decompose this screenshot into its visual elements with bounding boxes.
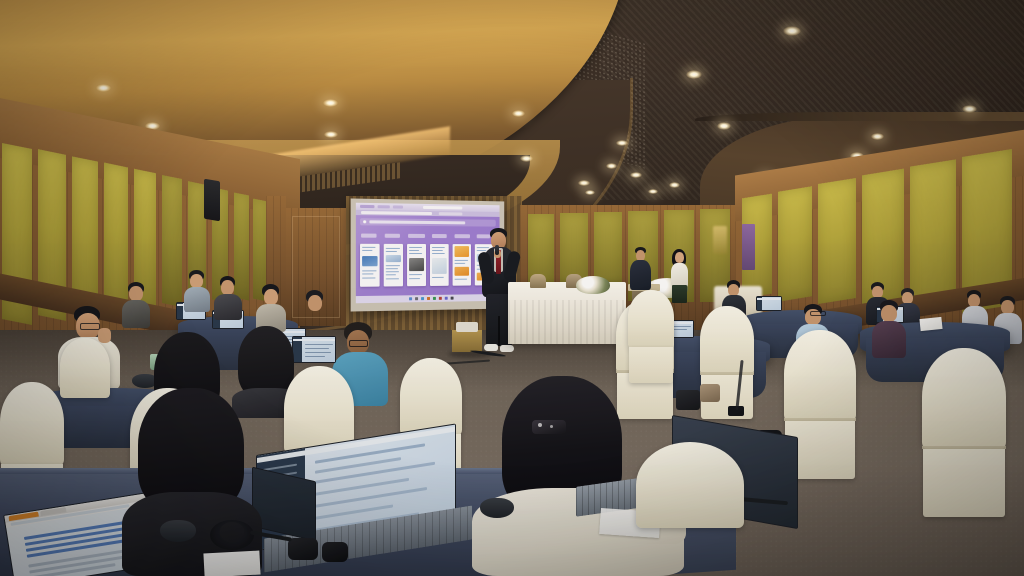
audience-person [184,270,210,312]
downlight [324,131,338,138]
laptop [756,296,784,314]
person-at-podium [629,247,651,293]
downlight [648,189,658,194]
presenter-shoe [484,344,498,351]
head [221,280,234,295]
downlight [578,180,590,186]
eyeglasses [80,323,100,330]
wall-panel [818,178,856,304]
torso [122,300,150,328]
audience-person [122,282,150,328]
headphone-earcup [322,542,348,562]
mouse [160,520,196,542]
torso-purple-shirt [872,321,906,358]
wall-sconce [713,226,727,254]
eyeglasses [810,311,826,316]
downlight [783,26,801,36]
person-standing-beside-podium [668,249,690,303]
head [190,274,203,288]
slide-column-header [385,234,400,238]
handbag [700,384,720,402]
downlight [512,110,525,117]
head-table-chair [530,274,546,288]
head-table-skirt [508,300,626,344]
slide-card [407,244,426,286]
slide-column-header [408,234,425,238]
audience-person [256,284,286,332]
papers [203,551,260,576]
hair-clip-sparkle [538,423,542,427]
downlight [871,133,884,140]
audience-person [214,276,242,320]
hair-clip [532,420,566,434]
mouse [480,498,514,518]
downlight [962,105,977,113]
torso [184,287,210,312]
downlight [585,190,595,195]
hair-clip-sparkle [550,425,553,428]
projector [456,322,478,332]
slide-column-header [432,234,447,238]
wall-speaker [204,179,220,222]
microphone [495,245,499,255]
banner-stand [742,224,755,270]
downlight [520,155,533,162]
papers [919,317,942,331]
torso [214,294,242,320]
slide-notification-banner [360,218,496,226]
headphone-earcup [288,538,318,560]
slide-address-bar [356,210,500,217]
head [675,252,684,263]
ceiling-right-trim [695,112,1024,121]
slide-card [384,244,403,287]
downlight [717,122,731,130]
torso-dark-shirt [630,260,651,290]
downlight [686,70,702,79]
downlight [669,182,680,188]
skirt-dark-green [672,285,687,303]
presenter-shoe [500,345,514,352]
audience-person [300,290,330,342]
torso-white-blouse [671,263,688,287]
slide-column-header [361,234,376,238]
wall-panel [162,175,182,307]
head [264,289,278,305]
head [1001,300,1014,314]
downlight [616,140,628,146]
downlight [630,172,642,178]
downlight [323,99,338,107]
head [308,295,322,311]
slide-column-header [455,234,470,238]
head [881,305,897,322]
downlight [96,84,111,92]
presenter-leg-gap [498,316,500,346]
headphones [210,520,254,550]
slide-card [453,244,471,286]
downlight [606,163,617,169]
conference-room-photo [0,0,1024,576]
floral-arrangement [576,276,610,294]
wall-panel [778,186,812,301]
eyeglasses [349,340,368,347]
hand [98,328,111,343]
slide-card [360,244,380,287]
audience-person [872,300,906,358]
head [129,286,143,301]
slide-card [430,244,449,286]
